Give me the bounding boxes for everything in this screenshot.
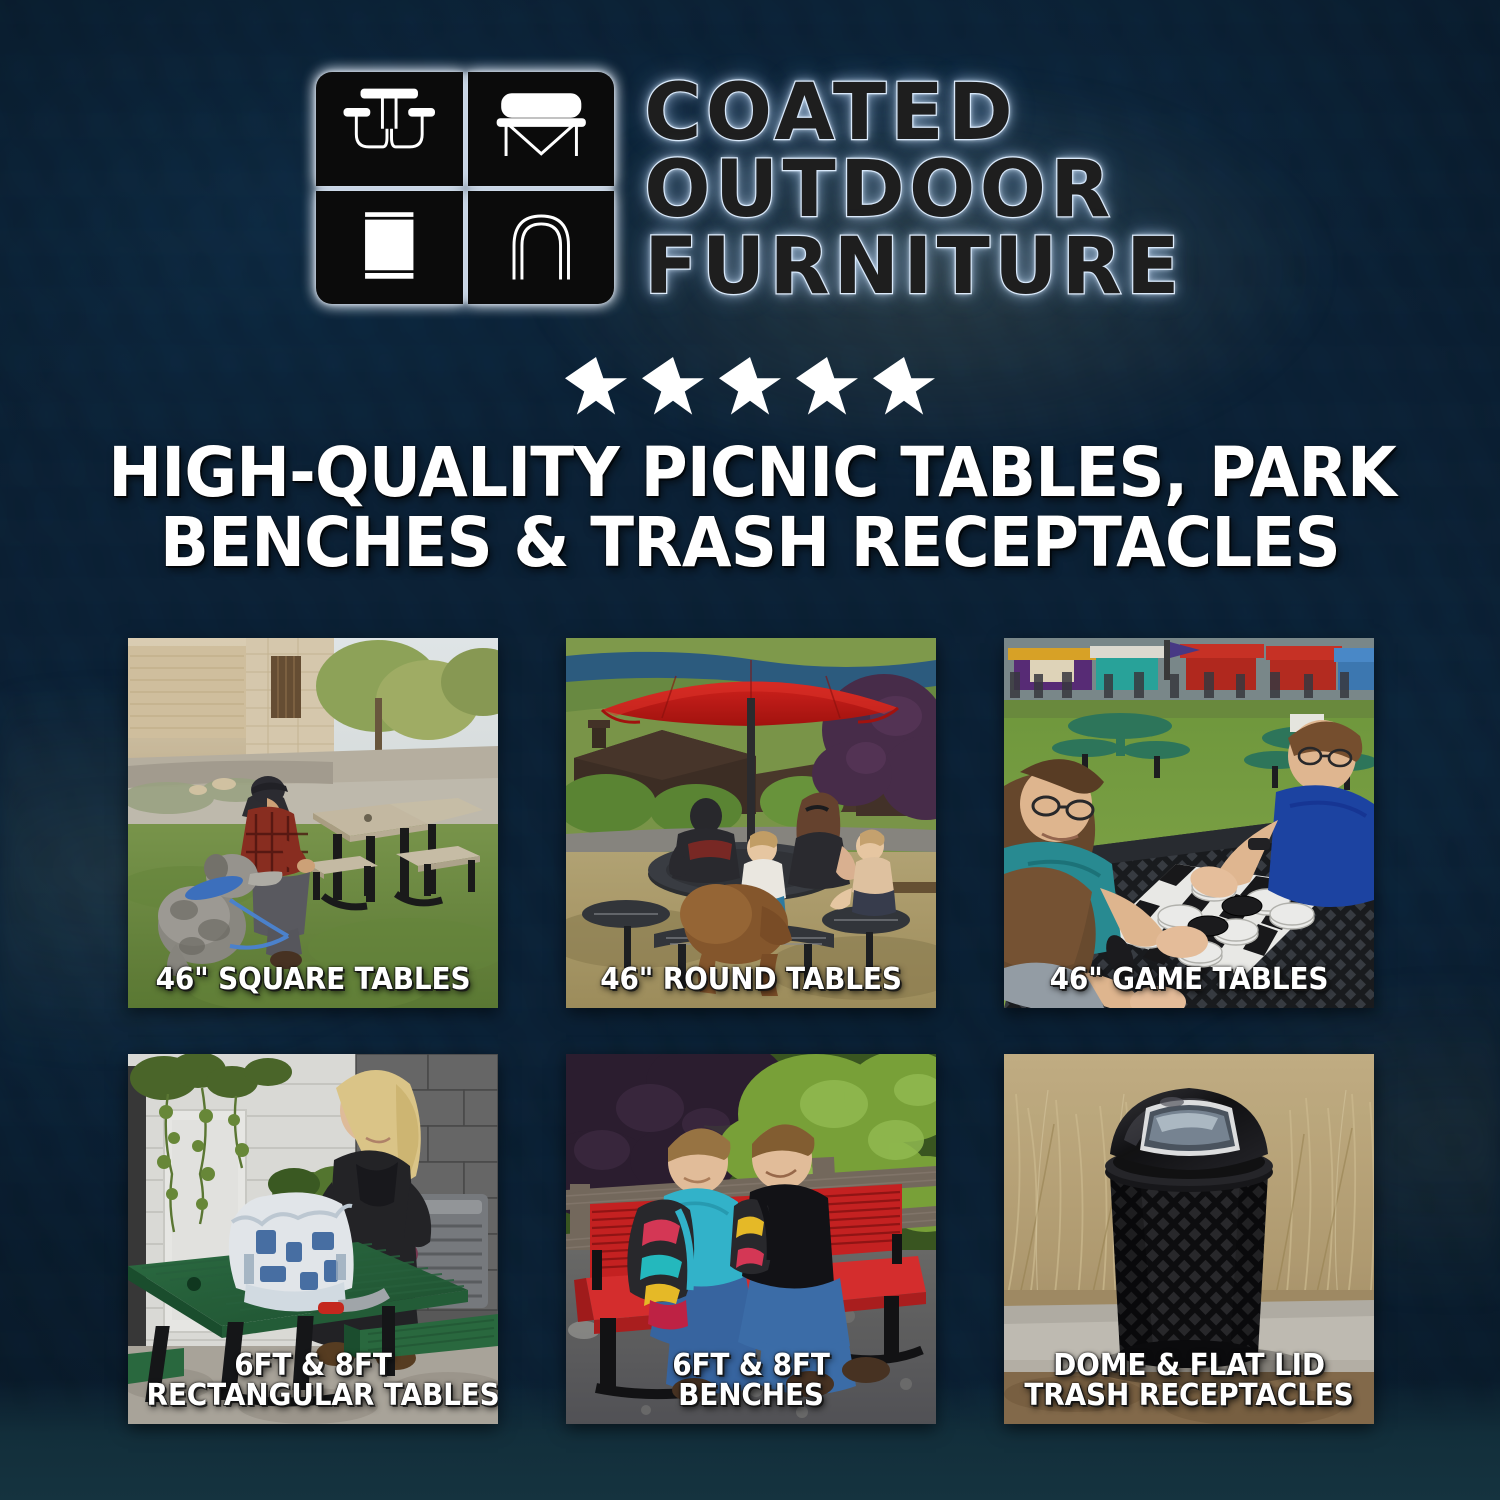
brand-logo-mark [316, 72, 614, 304]
star-icon [719, 357, 781, 417]
headline-line-1: HIGH-QUALITY PICNIC TABLES, PARK [108, 438, 1391, 508]
brand-word-coated: COATED [644, 76, 1183, 151]
star-icon [565, 357, 627, 417]
product-tile-rectangular-tables[interactable]: 6FT & 8FT RECTANGULAR TABLES [128, 1054, 498, 1424]
trash-receptacle-icon [316, 191, 463, 305]
product-photo-round-tables [566, 638, 936, 1008]
product-category-grid: 46" SQUARE TABLES [128, 638, 1373, 1424]
brand-wordmark: COATED OUTDOOR FURNITURE [644, 72, 1183, 305]
promotional-banner: COATED OUTDOOR FURNITURE HIGH-QUALITY PI… [0, 0, 1500, 1500]
star-rating [0, 357, 1500, 417]
product-photo-rectangular-tables [128, 1054, 498, 1424]
headline: HIGH-QUALITY PICNIC TABLES, PARK BENCHES… [53, 438, 1448, 579]
star-icon [873, 357, 935, 417]
brand-word-furniture: FURNITURE [644, 230, 1183, 305]
product-photo-square-tables [128, 638, 498, 1008]
bike-rack-arch-icon [468, 191, 615, 305]
star-icon [642, 357, 704, 417]
product-photo-trash-receptacles [1004, 1054, 1374, 1424]
headline-line-2: BENCHES & TRASH RECEPTACLES [108, 508, 1391, 578]
brand-logo-lockup: COATED OUTDOOR FURNITURE [0, 72, 1500, 305]
product-tile-game-tables[interactable]: 46" GAME TABLES [1004, 638, 1374, 1008]
product-tile-round-tables[interactable]: 46" ROUND TABLES [566, 638, 936, 1008]
park-bench-icon [468, 72, 615, 186]
product-photo-game-tables [1004, 638, 1374, 1008]
picnic-table-icon [316, 72, 463, 186]
product-tile-trash-receptacles[interactable]: DOME & FLAT LID TRASH RECEPTACLES [1004, 1054, 1374, 1424]
product-tile-benches[interactable]: 6FT & 8FT BENCHES [566, 1054, 936, 1424]
product-tile-square-tables[interactable]: 46" SQUARE TABLES [128, 638, 498, 1008]
star-icon [796, 357, 858, 417]
brand-word-outdoor: OUTDOOR [644, 153, 1183, 228]
product-photo-benches [566, 1054, 936, 1424]
